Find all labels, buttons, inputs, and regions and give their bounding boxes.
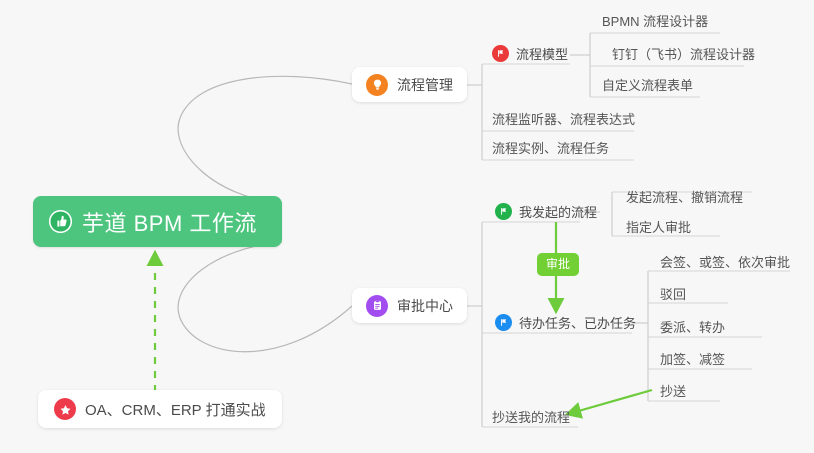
clipboard-icon [366,295,388,317]
star-icon [54,398,76,420]
leaf-process-listener-expression[interactable]: 流程监听器、流程表达式 [492,112,635,127]
approval-badge[interactable]: 审批 [537,253,579,276]
wire-root-to-process [178,76,352,203]
leaf-bpmn-designer[interactable]: BPMN 流程设计器 [602,14,708,29]
branch-process-management-label: 流程管理 [397,75,453,95]
flag-icon [495,203,512,220]
wire-root-to-approval [178,242,352,352]
leaf-add-remove-sign[interactable]: 加签、减签 [660,352,725,367]
leaf-process-instance-task[interactable]: 流程实例、流程任务 [492,141,609,156]
leaf-reject[interactable]: 驳回 [660,287,686,302]
topic-my-started-process-label: 我发起的流程 [519,202,597,221]
flag-icon [495,314,512,331]
mindmap-canvas: 芋道 BPM 工作流 流程管理 审批中心 [0,0,814,453]
integration-node[interactable]: OA、CRM、ERP 打通实战 [38,390,282,428]
leaf-assignee-approval[interactable]: 指定人审批 [626,220,691,235]
cc-to-process-arrow [568,390,652,414]
topic-todo-done-tasks[interactable]: 待办任务、已办任务 [495,313,636,332]
thumbs-up-icon [49,210,72,233]
flag-icon [492,45,509,62]
branch-process-management[interactable]: 流程管理 [352,67,467,102]
leaf-start-cancel-process[interactable]: 发起流程、撤销流程 [626,190,743,205]
branch-approval-center-label: 审批中心 [397,296,453,316]
leaf-cc-to-me-process[interactable]: 抄送我的流程 [492,410,570,425]
topic-todo-done-tasks-label: 待办任务、已办任务 [519,313,636,332]
root-node[interactable]: 芋道 BPM 工作流 [33,196,282,247]
leaf-dingtalk-feishu-designer[interactable]: 钉钉（飞书）流程设计器 [612,47,755,62]
integration-node-label: OA、CRM、ERP 打通实战 [85,399,266,420]
leaf-delegate-transfer[interactable]: 委派、转办 [660,320,725,335]
leaf-custom-process-form[interactable]: 自定义流程表单 [602,78,693,93]
topic-process-model[interactable]: 流程模型 [492,44,568,63]
root-label: 芋道 BPM 工作流 [82,206,257,238]
branch-approval-center[interactable]: 审批中心 [352,288,467,323]
topic-process-model-label: 流程模型 [516,44,568,63]
leaf-countersign-or-sequential[interactable]: 会签、或签、依次审批 [660,255,790,270]
lightbulb-icon [366,74,388,96]
leaf-cc[interactable]: 抄送 [660,384,686,399]
topic-my-started-process[interactable]: 我发起的流程 [495,202,597,221]
